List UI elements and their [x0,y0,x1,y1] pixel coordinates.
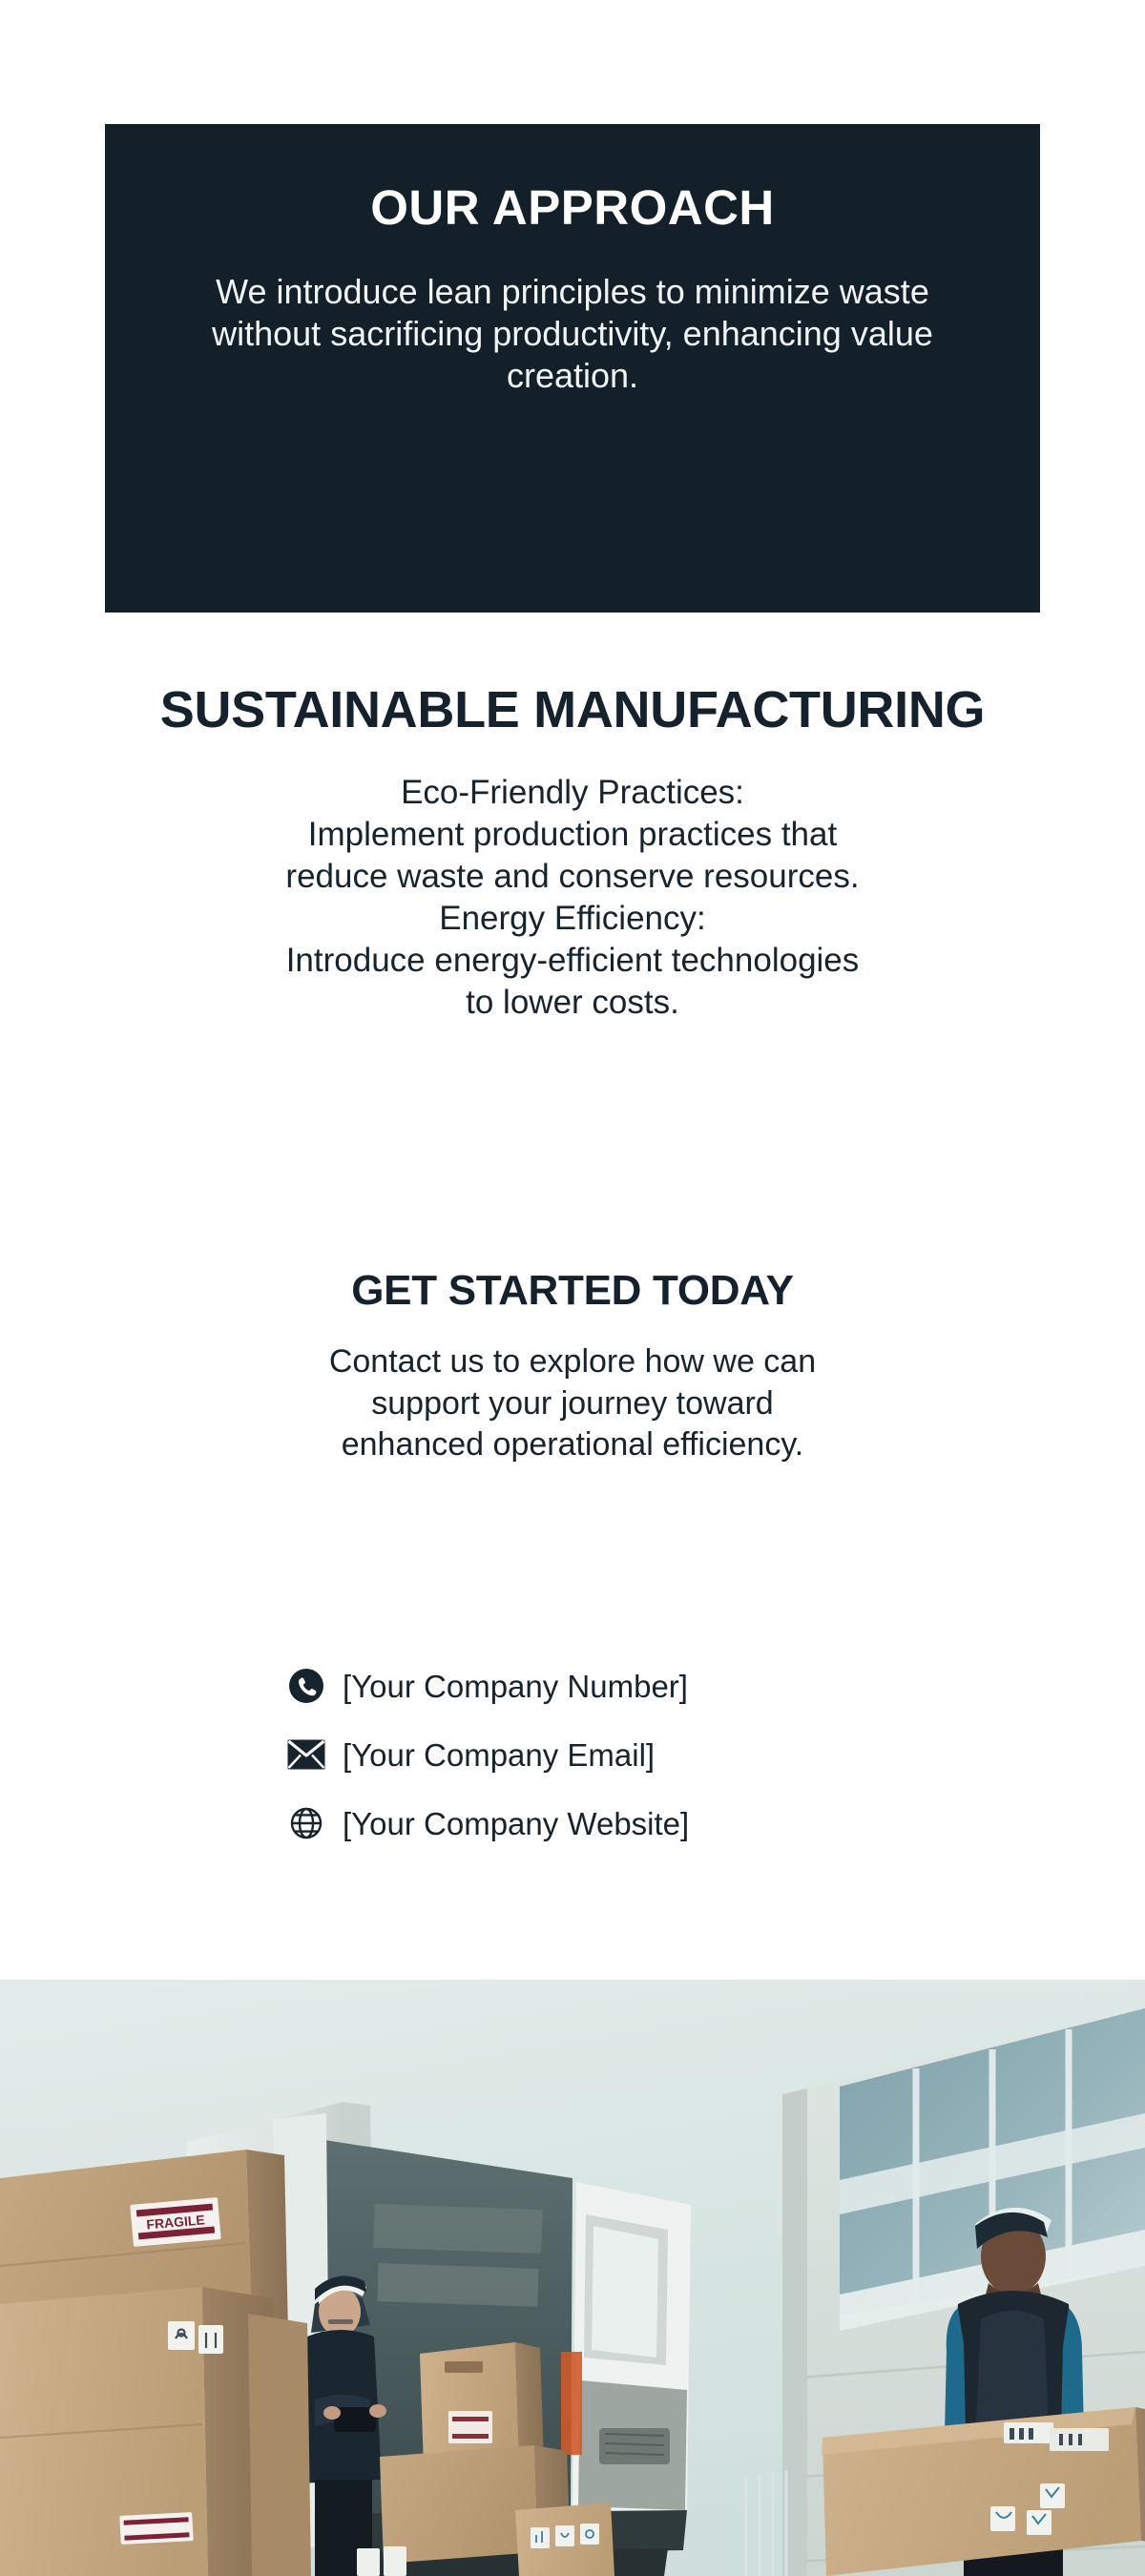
body-line: to lower costs. [0,982,1145,1024]
phone-icon [286,1666,326,1706]
sustainable-manufacturing-heading: SUSTAINABLE MANUFACTURING [0,683,1145,737]
globe-icon [286,1803,326,1843]
delivery-photo: FRAGILE [0,1980,1145,2576]
body-line: support your journey toward [0,1383,1145,1425]
page-title: OUR APPROACH [370,181,774,235]
body-line: Contact us to explore how we can [0,1341,1145,1383]
body-line: reduce waste and conserve resources. [0,856,1145,898]
email-icon [286,1735,326,1775]
get-started-section: GET STARTED TODAY Contact us to explore … [0,1269,1145,1466]
our-approach-body: We introduce lean principles to minimize… [210,235,935,397]
contact-list: [Your Company Number] [Your Company Emai… [0,1666,1145,1843]
body-line: sacrificing productivity, [330,314,673,353]
fragile-label: FRAGILE [130,2197,220,2247]
body-line: Energy Efficiency: [0,898,1145,940]
delivery-photo-illustration: FRAGILE [0,1980,1145,2576]
our-approach-panel: OUR APPROACH We introduce lean principle… [105,124,1040,613]
body-line: Eco-Friendly Practices: [0,772,1145,814]
body-line: Introduce energy-efficient technologies [0,940,1145,982]
contact-website-label: [Your Company Website] [343,1808,689,1839]
body-line: Implement production practices that [0,814,1145,856]
sustainable-manufacturing-section: SUSTAINABLE MANUFACTURING Eco-Friendly P… [0,683,1145,1024]
body-line: We introduce lean principles [216,272,647,311]
contact-item-phone[interactable]: [Your Company Number] [286,1666,859,1706]
body-line: enhanced operational efficiency. [0,1424,1145,1466]
contact-phone-label: [Your Company Number] [343,1671,688,1702]
contact-item-email[interactable]: [Your Company Email] [286,1735,859,1775]
get-started-heading: GET STARTED TODAY [0,1269,1145,1313]
get-started-body: Contact us to explore how we can support… [0,1313,1145,1466]
contact-item-website[interactable]: [Your Company Website] [286,1803,859,1843]
contact-email-label: [Your Company Email] [343,1739,655,1771]
sustainable-manufacturing-body: Eco-Friendly Practices: Implement produc… [0,737,1145,1025]
